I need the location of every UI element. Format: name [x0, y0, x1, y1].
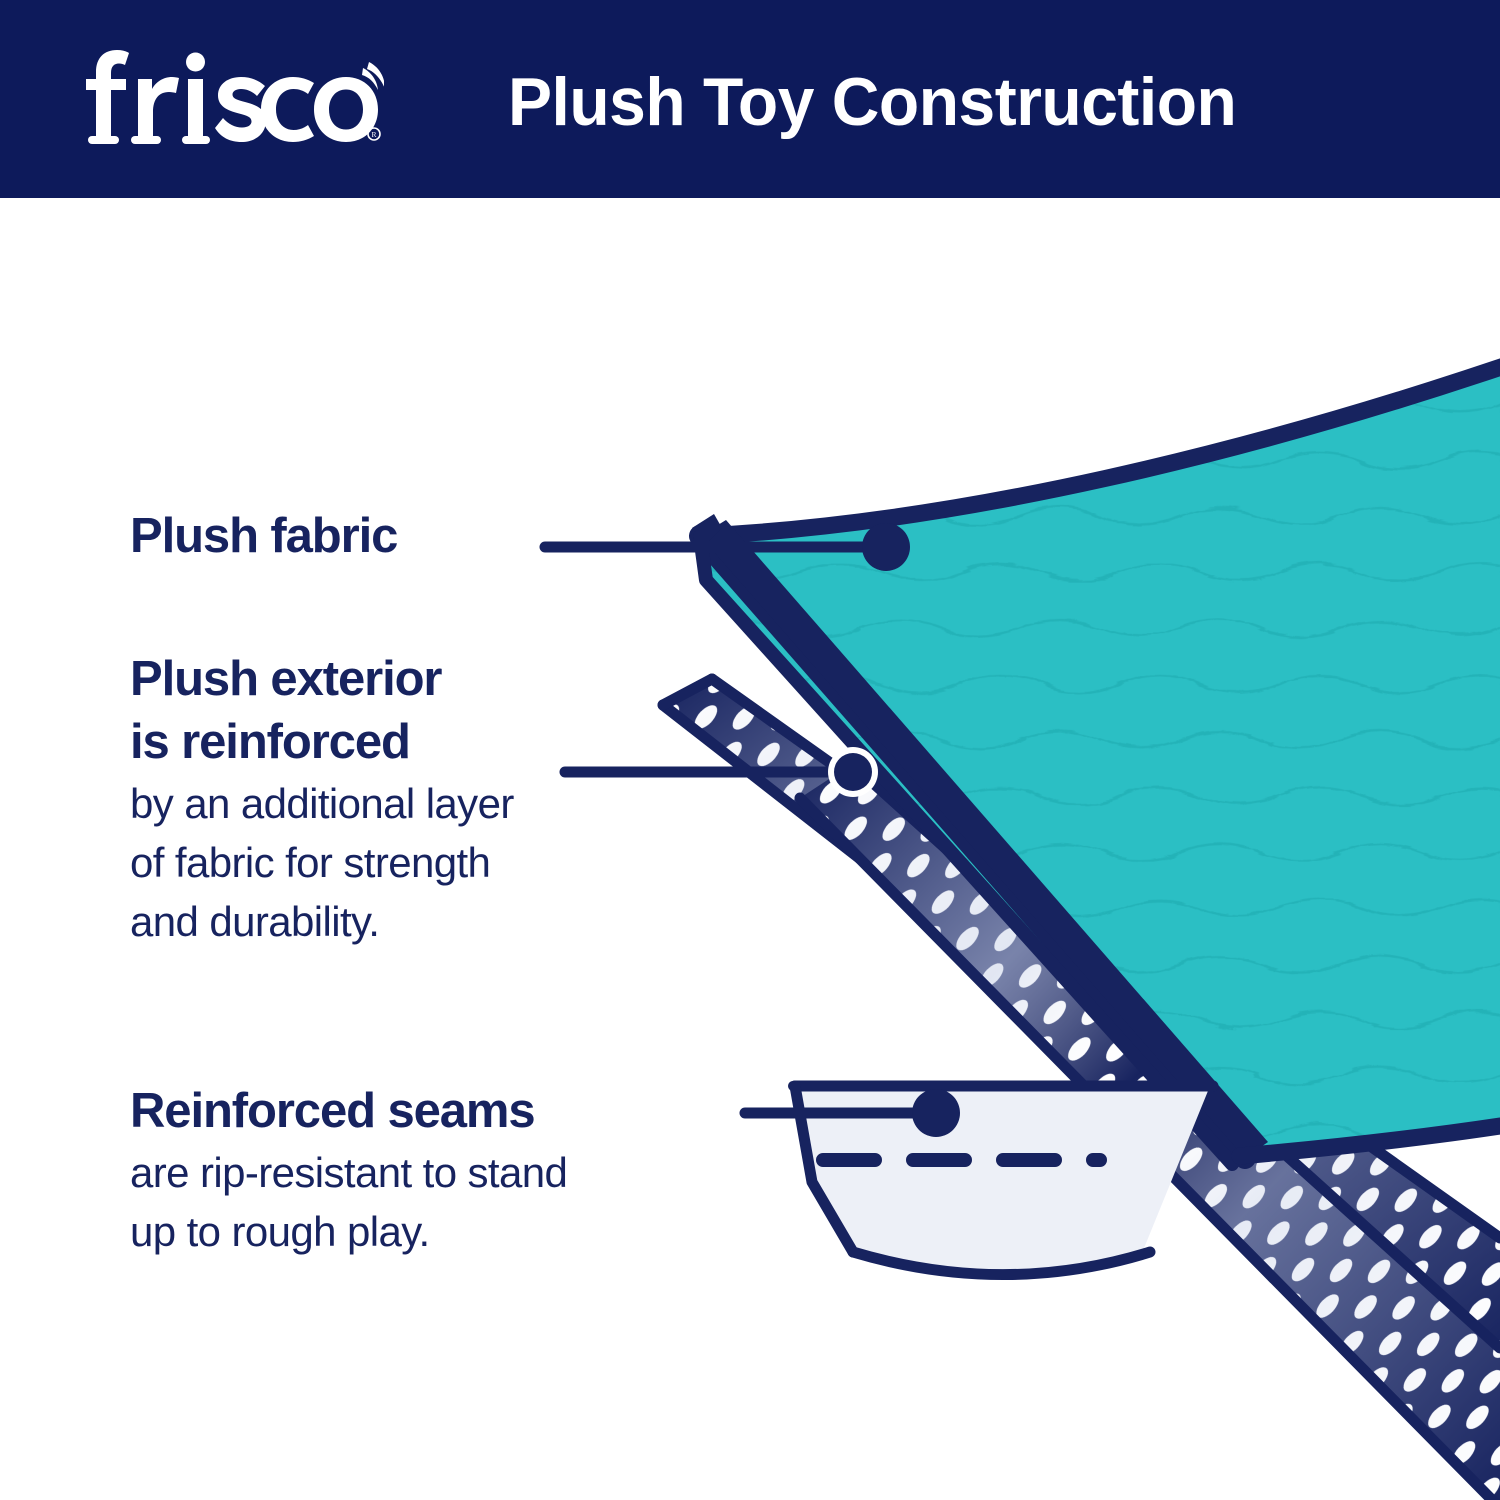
callout-plush-fabric: Plush fabric [130, 505, 397, 568]
page-title: Plush Toy Construction [508, 50, 1236, 154]
callout-body-seams-line-2: up to rough play. [130, 1202, 567, 1261]
callout-body-line-3: and durability. [130, 892, 514, 951]
callout-body-line-2: of fabric for strength [130, 833, 514, 892]
callout-plush-exterior: Plush exterior is reinforced by an addit… [130, 648, 514, 951]
callout-body-seams-line-1: are rip-resistant to stand [130, 1143, 567, 1202]
frisco-logo-svg: R [84, 48, 384, 148]
callout-body-line-1: by an additional layer [130, 774, 514, 833]
callout-heading-plush-fabric: Plush fabric [130, 505, 397, 568]
infographic-page: R Plush Toy Construction [0, 0, 1500, 1500]
seam-flap [790, 1086, 1140, 1146]
frisco-logo: R [84, 48, 384, 148]
header-banner: R Plush Toy Construction [0, 0, 1500, 198]
callout-heading-line-2: is reinforced [130, 711, 514, 774]
svg-text:R: R [371, 130, 376, 139]
callout-reinforced-seams: Reinforced seams are rip-resistant to st… [130, 1080, 567, 1261]
callout-heading-line-1: Plush exterior [130, 648, 514, 711]
callout-heading-reinforced-seams: Reinforced seams [130, 1080, 567, 1143]
